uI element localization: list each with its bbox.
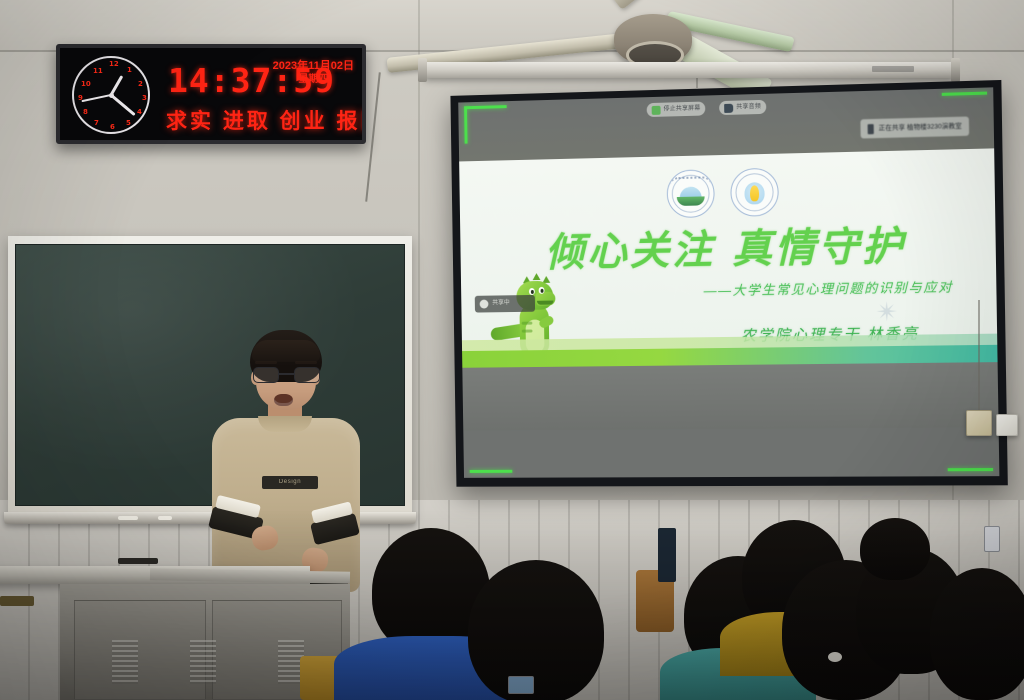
led-weekday-text: 星期四: [273, 73, 354, 86]
speaker-eyebrow: [295, 361, 317, 364]
audience-head: [468, 560, 604, 700]
eyeglasses-icon: [253, 367, 320, 383]
wall-outlet-box: [966, 410, 992, 436]
clock-numeral: 11: [93, 68, 103, 75]
roller-end-cap: [418, 58, 427, 82]
microphone-stand: [658, 528, 676, 582]
presentation-slide: 倾心关注 真情守护 ——大学生常见心理问题的识别与应对 ✴ 农学院心理专干 林香…: [459, 148, 998, 430]
chest-logo-text: Design: [262, 476, 318, 489]
roller-end-cap: [951, 58, 960, 82]
clock-numeral: 2: [138, 81, 143, 88]
glasses-lens: [253, 367, 279, 383]
cabinet-door[interactable]: [74, 600, 206, 700]
corner-bracket: [470, 470, 513, 473]
speaker-presenter: Design: [196, 330, 368, 592]
badge-label: 共享中: [492, 300, 510, 307]
desk-pen: [118, 558, 158, 564]
share-status-label: 正在共享 植物楼3230演教室: [879, 122, 962, 132]
psychology-center-logo-icon: [730, 168, 779, 217]
hair-tie: [828, 652, 842, 662]
dino-eye: [539, 287, 545, 294]
dino-stripe: [522, 330, 533, 333]
clock-numeral: 3: [142, 95, 147, 102]
glasses-bridge: [279, 373, 294, 375]
slide-subtitle: ——大学生常见心理问题的识别与应对: [703, 279, 953, 299]
audience-phone: [984, 526, 1000, 552]
slide-overlay-badge[interactable]: 共享中: [475, 295, 535, 313]
share-audio-label: 共享音频: [736, 103, 761, 111]
ceiling-fan: [404, 0, 764, 99]
projector-screen-roller: [424, 62, 954, 78]
audience-head: [860, 518, 930, 580]
audience-phone: [508, 676, 534, 694]
dino-stripe: [522, 322, 533, 325]
cabinet-vent: [190, 640, 216, 684]
stop-share-label: 停止共享屏幕: [663, 105, 700, 113]
led-motto-text: 求实 进取 创业 报国: [166, 110, 366, 133]
slide-emblem-row: [666, 168, 779, 218]
clock-second-hand: [81, 94, 111, 102]
clock-numeral: 8: [83, 109, 88, 116]
clock-numeral: 7: [94, 120, 99, 127]
screen-surface: 停止共享屏幕 共享音频 正在共享 植物楼3230演教室: [458, 87, 999, 478]
corner-bracket: [948, 468, 993, 471]
speaker-icon: [724, 103, 733, 112]
dino-spike: [533, 273, 541, 280]
cabinet-vent: [112, 640, 138, 684]
audience-head: [930, 568, 1024, 700]
led-date-text: 2023年11月02日: [273, 59, 354, 73]
share-status-icon: [867, 124, 873, 134]
corner-bracket: [464, 106, 467, 143]
screen-share-icon: [652, 105, 661, 114]
clock-numeral: 4: [137, 109, 142, 116]
speaker-eyebrow: [255, 361, 277, 364]
clock-numeral: 1: [127, 67, 132, 74]
desk-socket-strip: [0, 596, 34, 606]
outlet-conduit: [978, 300, 980, 412]
wall-outlet-box: [996, 414, 1018, 436]
speaker-collar: [258, 416, 312, 432]
clock-numeral: 12: [109, 61, 119, 68]
glasses-lens: [294, 367, 320, 383]
slide-letterbox: [462, 362, 998, 431]
fan-blade: [610, 0, 698, 10]
analog-clock-face: 12 1 2 3 4 5 6 7 8 9 10 11: [72, 56, 150, 134]
led-clock-board: 12 1 2 3 4 5 6 7 8 9 10 11 14:37:59 2023…: [56, 44, 366, 144]
slide-star-decor: ✴: [876, 298, 899, 325]
clock-numeral: 5: [126, 120, 131, 127]
clock-minute-hand: [110, 94, 136, 116]
clock-center-cap: [109, 93, 114, 98]
dino-mouth: [537, 301, 554, 305]
slide-main-title: 倾心关注 真情守护: [545, 223, 906, 276]
clock-numeral: 10: [81, 81, 91, 88]
roller-brand-label: [872, 66, 914, 72]
university-seal-icon: [666, 169, 714, 218]
share-audio-button[interactable]: 共享音频: [719, 100, 766, 115]
speaker-fringe: [252, 340, 320, 362]
chest-logo-patch: Design: [262, 476, 318, 489]
classroom-photo: 12 1 2 3 4 5 6 7 8 9 10 11 14:37:59 2023…: [0, 0, 1024, 700]
share-status-toast[interactable]: 正在共享 植物楼3230演教室: [860, 116, 969, 138]
projection-screen: 停止共享屏幕 共享音频 正在共享 植物楼3230演教室: [450, 80, 1007, 487]
chalk-piece: [118, 516, 138, 520]
badge-icon: [480, 300, 489, 309]
speaker-mouth: [274, 394, 293, 406]
chalk-piece: [158, 516, 172, 520]
led-date-block: 2023年11月02日 星期四: [273, 59, 354, 86]
clock-numeral: 6: [110, 124, 115, 131]
stop-share-button[interactable]: 停止共享屏幕: [647, 101, 706, 117]
